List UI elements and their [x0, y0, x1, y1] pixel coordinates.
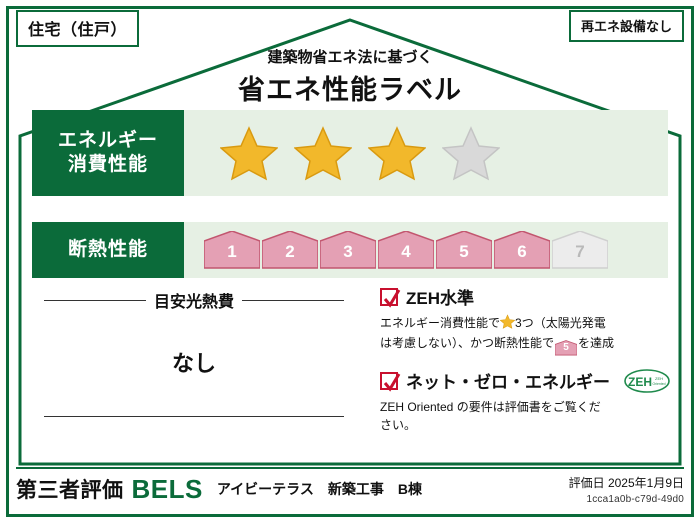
star-icon-inline: [500, 318, 515, 332]
zeh-logo-icon: ZEH ZEH Oriented: [624, 369, 670, 393]
certification-block: ZEH水準 エネルギー消費性能で3つ（太陽光発電 は考慮しない）、かつ断熱性能で…: [380, 284, 672, 434]
page-title: 省エネ性能ラベル: [0, 68, 700, 107]
net-zero-check-line: ネット・ゼロ・エネルギー ZEH ZEH Oriented: [380, 368, 672, 393]
grade-chip-7: 7: [552, 231, 608, 269]
grade-number: 2: [285, 238, 294, 262]
grade-number: 5: [555, 340, 577, 356]
utility-cost-value: なし: [44, 346, 344, 378]
evaluation-date-value: 2025年1月9日: [608, 476, 684, 490]
grade-chip-3: 3: [320, 231, 376, 269]
zeh-standard-description: エネルギー消費性能で3つ（太陽光発電 は考慮しない）、かつ断熱性能で5を達成: [380, 314, 672, 355]
rule-right: [242, 300, 344, 301]
net-zero-desc-line1: ZEH Oriented の要件は評価書をご覧くだ: [380, 400, 601, 414]
star-icon-empty-4: [442, 125, 500, 181]
svg-text:ZEH: ZEH: [628, 375, 652, 389]
insulation-label-text: 断熱性能: [68, 238, 148, 262]
grade-chip-6: 6: [494, 231, 550, 269]
utility-cost-heading: 目安光熱費: [44, 288, 344, 312]
star-icon-filled-2: [294, 125, 352, 181]
zeh-desc-part3: は考慮しない）、かつ断熱性能で: [380, 336, 554, 350]
grade-chip-4: 4: [378, 231, 434, 269]
net-zero-description: ZEH Oriented の要件は評価書をご覧くだ さい。: [380, 398, 672, 434]
grade-chip-2: 2: [262, 231, 318, 269]
checkbox-checked-icon: [380, 372, 398, 390]
utility-cost-bottom-rule: [44, 416, 344, 417]
svg-text:ZEH: ZEH: [655, 376, 663, 381]
grade-chip-inline: 5: [555, 340, 577, 355]
insulation-performance-row: 断熱性能 1 2: [32, 222, 668, 278]
energy-performance-body: [184, 110, 668, 196]
zeh-desc-part1: エネルギー消費性能で: [380, 316, 500, 330]
svg-text:Oriented: Oriented: [652, 382, 665, 386]
energy-performance-row: エネルギー 消費性能: [32, 110, 668, 196]
grade-scale: 1 2 3 4: [204, 231, 608, 269]
tag-building-type: 住宅（住戸）: [16, 10, 139, 47]
evaluation-date-label: 評価日: [569, 476, 605, 490]
grade-number: 7: [575, 238, 584, 262]
evaluation-date: 評価日 2025年1月9日: [569, 476, 684, 490]
third-party-evaluation-label: 第三者評価: [16, 474, 124, 504]
zeh-standard-title: ZEH水準: [406, 284, 474, 309]
star-rating: [220, 125, 500, 181]
star-icon-filled-3: [368, 125, 426, 181]
energy-label-line2: 消費性能: [68, 153, 148, 177]
footer: 第三者評価 BELS アイビーテラス 新築工事 B棟 評価日 2025年1月9日…: [16, 469, 684, 509]
net-zero-desc-line2: さい。: [380, 418, 416, 432]
evaluation-id: 1cca1a0b-c79d-49d0: [569, 494, 684, 505]
grade-chip-5: 5: [436, 231, 492, 269]
zeh-desc-part4: を達成: [578, 336, 614, 350]
utility-cost-block: 目安光熱費 なし: [44, 288, 344, 417]
grade-number: 4: [401, 238, 410, 262]
checkbox-checked-icon: [380, 288, 398, 306]
grade-number: 3: [343, 238, 352, 262]
energy-performance-label: エネルギー 消費性能: [32, 110, 184, 196]
insulation-performance-body: 1 2 3 4: [184, 222, 668, 278]
zeh-standard-check-line: ZEH水準: [380, 284, 672, 309]
rule-left: [44, 300, 146, 301]
label-sheet: 住宅（住戸） 再エネ設備なし 建築物省エネ法に基づく 省エネ性能ラベル エネルギ…: [0, 0, 700, 523]
grade-chip-1: 1: [204, 231, 260, 269]
energy-label-line1: エネルギー: [58, 129, 158, 153]
insulation-performance-label: 断熱性能: [32, 222, 184, 278]
grade-number: 5: [459, 238, 468, 262]
bels-logo-text: BELS: [132, 474, 203, 505]
property-name: アイビーテラス 新築工事 B棟: [217, 479, 422, 499]
title-subtitle: 建築物省エネ法に基づく: [0, 46, 700, 67]
footer-right: 評価日 2025年1月9日 1cca1a0b-c79d-49d0: [569, 474, 684, 505]
grade-number: 6: [517, 238, 526, 262]
tag-renewable-energy: 再エネ設備なし: [569, 10, 684, 42]
utility-cost-heading-text: 目安光熱費: [154, 288, 234, 312]
zeh-desc-part2: 3つ（太陽光発電: [515, 316, 606, 330]
grade-number: 1: [227, 238, 236, 262]
star-icon-filled-1: [220, 125, 278, 181]
net-zero-title: ネット・ゼロ・エネルギー: [406, 368, 610, 393]
